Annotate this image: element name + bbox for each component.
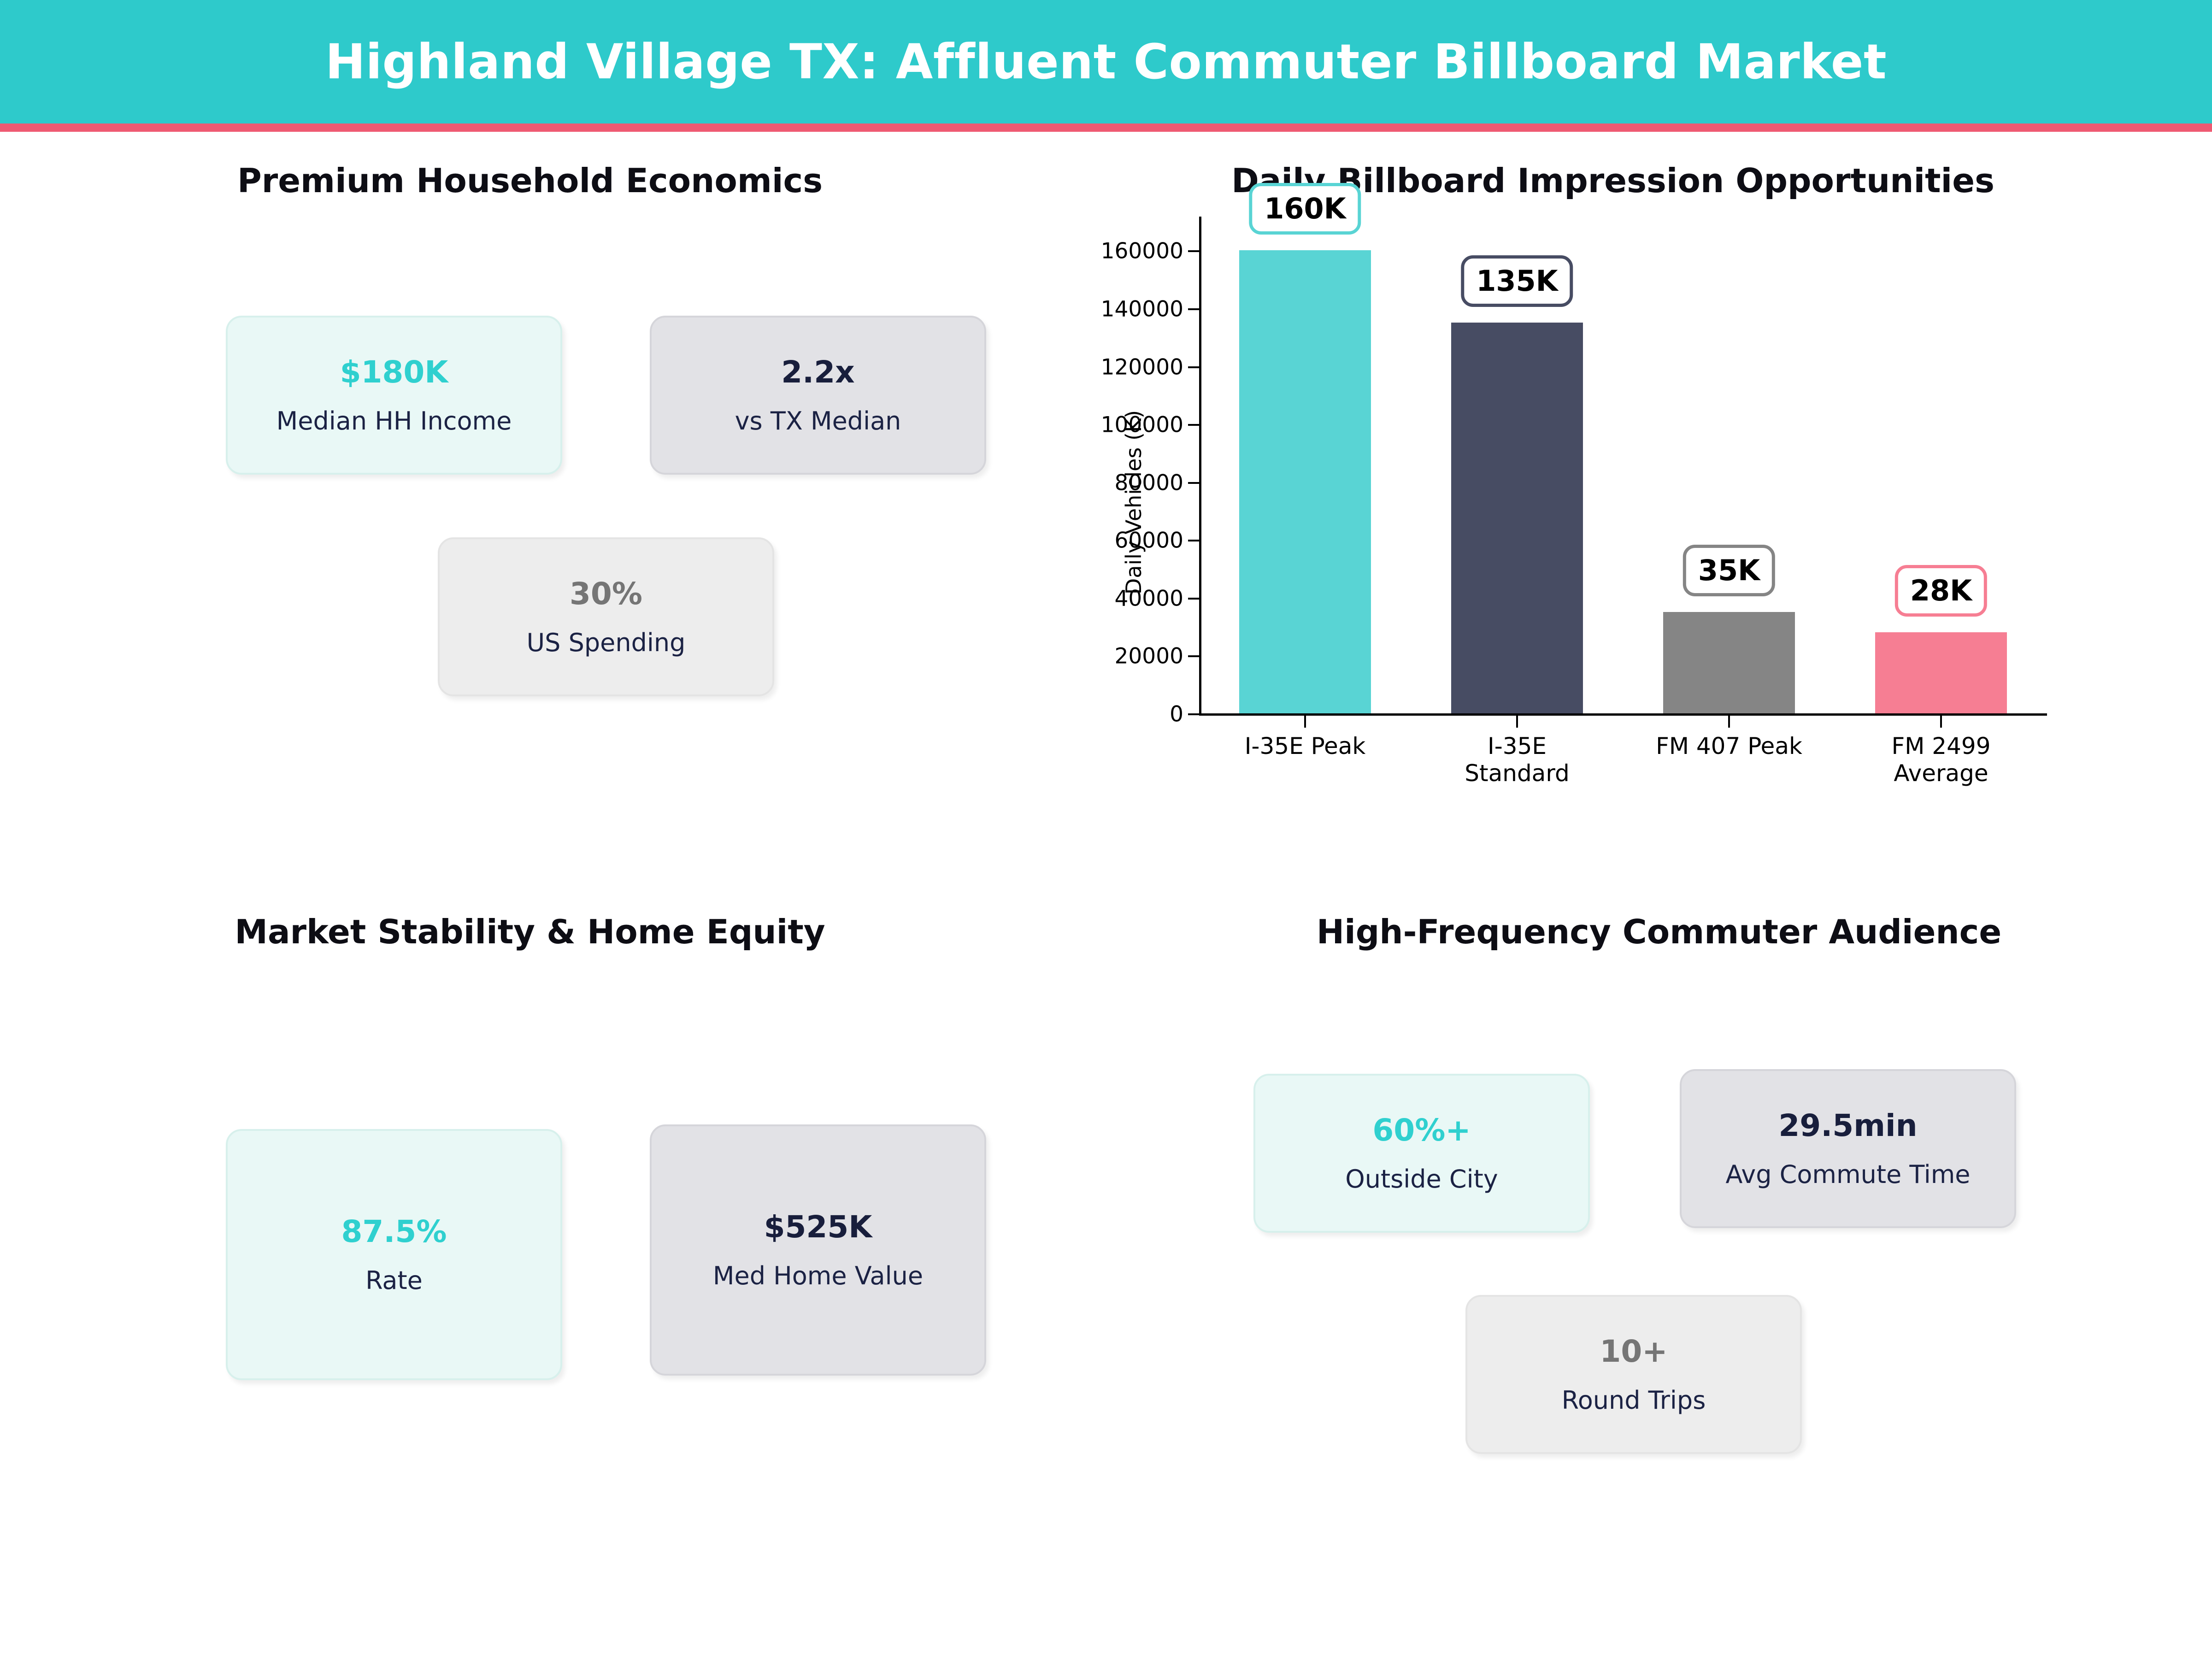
kpi-card-vs-tx-median: 2.2x vs TX Median [650,316,986,475]
section-premium-household-economics: Premium Household Economics $180K Median… [0,138,1060,806]
kpi-label: Round Trips [1562,1388,1706,1413]
section-title-commuter: High-Frequency Commuter Audience [1106,912,2212,951]
bar-value-badge: 28K [1895,565,1987,617]
y-axis-tick-label: 60000 [1114,528,1183,553]
x-axis-tick-label: I-35E Peak [1245,733,1366,760]
y-axis-tick [1188,424,1199,426]
bar-value-badge: 135K [1461,255,1573,307]
chart-plot-area: 0200004000060000800001000001200001400001… [1199,217,2047,714]
x-axis-tick [1304,716,1306,728]
kpi-card-outside-city: 60%+ Outside City [1253,1074,1590,1233]
chart-bar [1239,250,1371,713]
y-axis-tick [1188,598,1199,600]
kpi-value: 10+ [1600,1336,1667,1367]
bar-chart: Daily Vehicles (K) 020000400006000080000… [1069,203,2074,802]
x-axis-tick-label: I-35E Standard [1465,733,1569,787]
kpi-label: Median HH Income [276,409,512,434]
kpi-value: 30% [570,579,642,609]
x-axis-tick [1728,716,1730,728]
kpi-value: 87.5% [341,1217,447,1247]
x-axis-tick-label: FM 2499 Average [1891,733,1990,787]
kpi-label: Rate [365,1268,423,1293]
header-bar: Highland Village TX: Affluent Commuter B… [0,0,2212,124]
section-market-stability-home-equity: Market Stability & Home Equity 87.5% Rat… [0,889,1060,1558]
kpi-card-median-hh-income: $180K Median HH Income [226,316,562,475]
bar-value-badge: 160K [1249,183,1361,235]
y-axis-tick [1188,482,1199,484]
section-title-household: Premium Household Economics [0,161,1060,200]
x-axis-line [1199,713,2047,716]
y-axis-tick-label: 160000 [1101,239,1183,264]
y-axis-tick [1188,366,1199,368]
kpi-card-rate: 87.5% Rate [226,1129,562,1380]
section-high-frequency-commuter-audience: High-Frequency Commuter Audience 60%+ Ou… [1106,889,2212,1558]
chart-bar [1663,612,1794,713]
x-axis-tick [1940,716,1942,728]
y-axis-tick-label: 120000 [1101,354,1183,380]
section-title-stability: Market Stability & Home Equity [0,912,1060,951]
kpi-card-avg-commute-time: 29.5min Avg Commute Time [1680,1069,2016,1228]
kpi-label: US Spending [527,630,686,655]
x-axis-tick [1516,716,1518,728]
kpi-card-med-home-value: $525K Med Home Value [650,1124,986,1376]
kpi-value: 2.2x [781,357,855,388]
header-accent-rule [0,124,2212,132]
y-axis-tick [1188,250,1199,252]
kpi-value: 60%+ [1372,1115,1471,1146]
y-axis-tick-label: 100000 [1101,412,1183,438]
section-title-impressions: Daily Billboard Impression Opportunities [1060,161,2166,200]
y-axis-tick-label: 40000 [1114,586,1183,611]
chart-bar [1451,323,1583,713]
kpi-label: Med Home Value [713,1264,923,1288]
kpi-card-round-trips: 10+ Round Trips [1465,1295,1802,1454]
kpi-label: vs TX Median [735,409,901,434]
x-axis-tick-label: FM 407 Peak [1656,733,1802,760]
y-axis-tick-label: 20000 [1114,644,1183,669]
chart-bar [1875,632,2006,713]
y-axis-tick [1188,308,1199,310]
y-axis-tick [1188,713,1199,715]
y-axis-tick [1188,540,1199,541]
y-axis-tick-label: 140000 [1101,296,1183,322]
y-axis-tick-label: 80000 [1114,470,1183,495]
kpi-value: 29.5min [1778,1111,1917,1141]
kpi-card-us-spending: 30% US Spending [438,537,774,696]
page-title: Highland Village TX: Affluent Commuter B… [325,34,1887,90]
kpi-label: Outside City [1345,1167,1498,1192]
kpi-label: Avg Commute Time [1725,1162,1970,1187]
kpi-value: $525K [764,1212,872,1242]
kpi-value: $180K [340,357,448,388]
y-axis-tick-label: 0 [1170,702,1183,727]
bar-value-badge: 35K [1683,545,1775,596]
chart-y-axis-label: Daily Vehicles (K) [1121,410,1146,594]
y-axis-tick [1188,655,1199,657]
y-axis-line [1199,217,1201,714]
